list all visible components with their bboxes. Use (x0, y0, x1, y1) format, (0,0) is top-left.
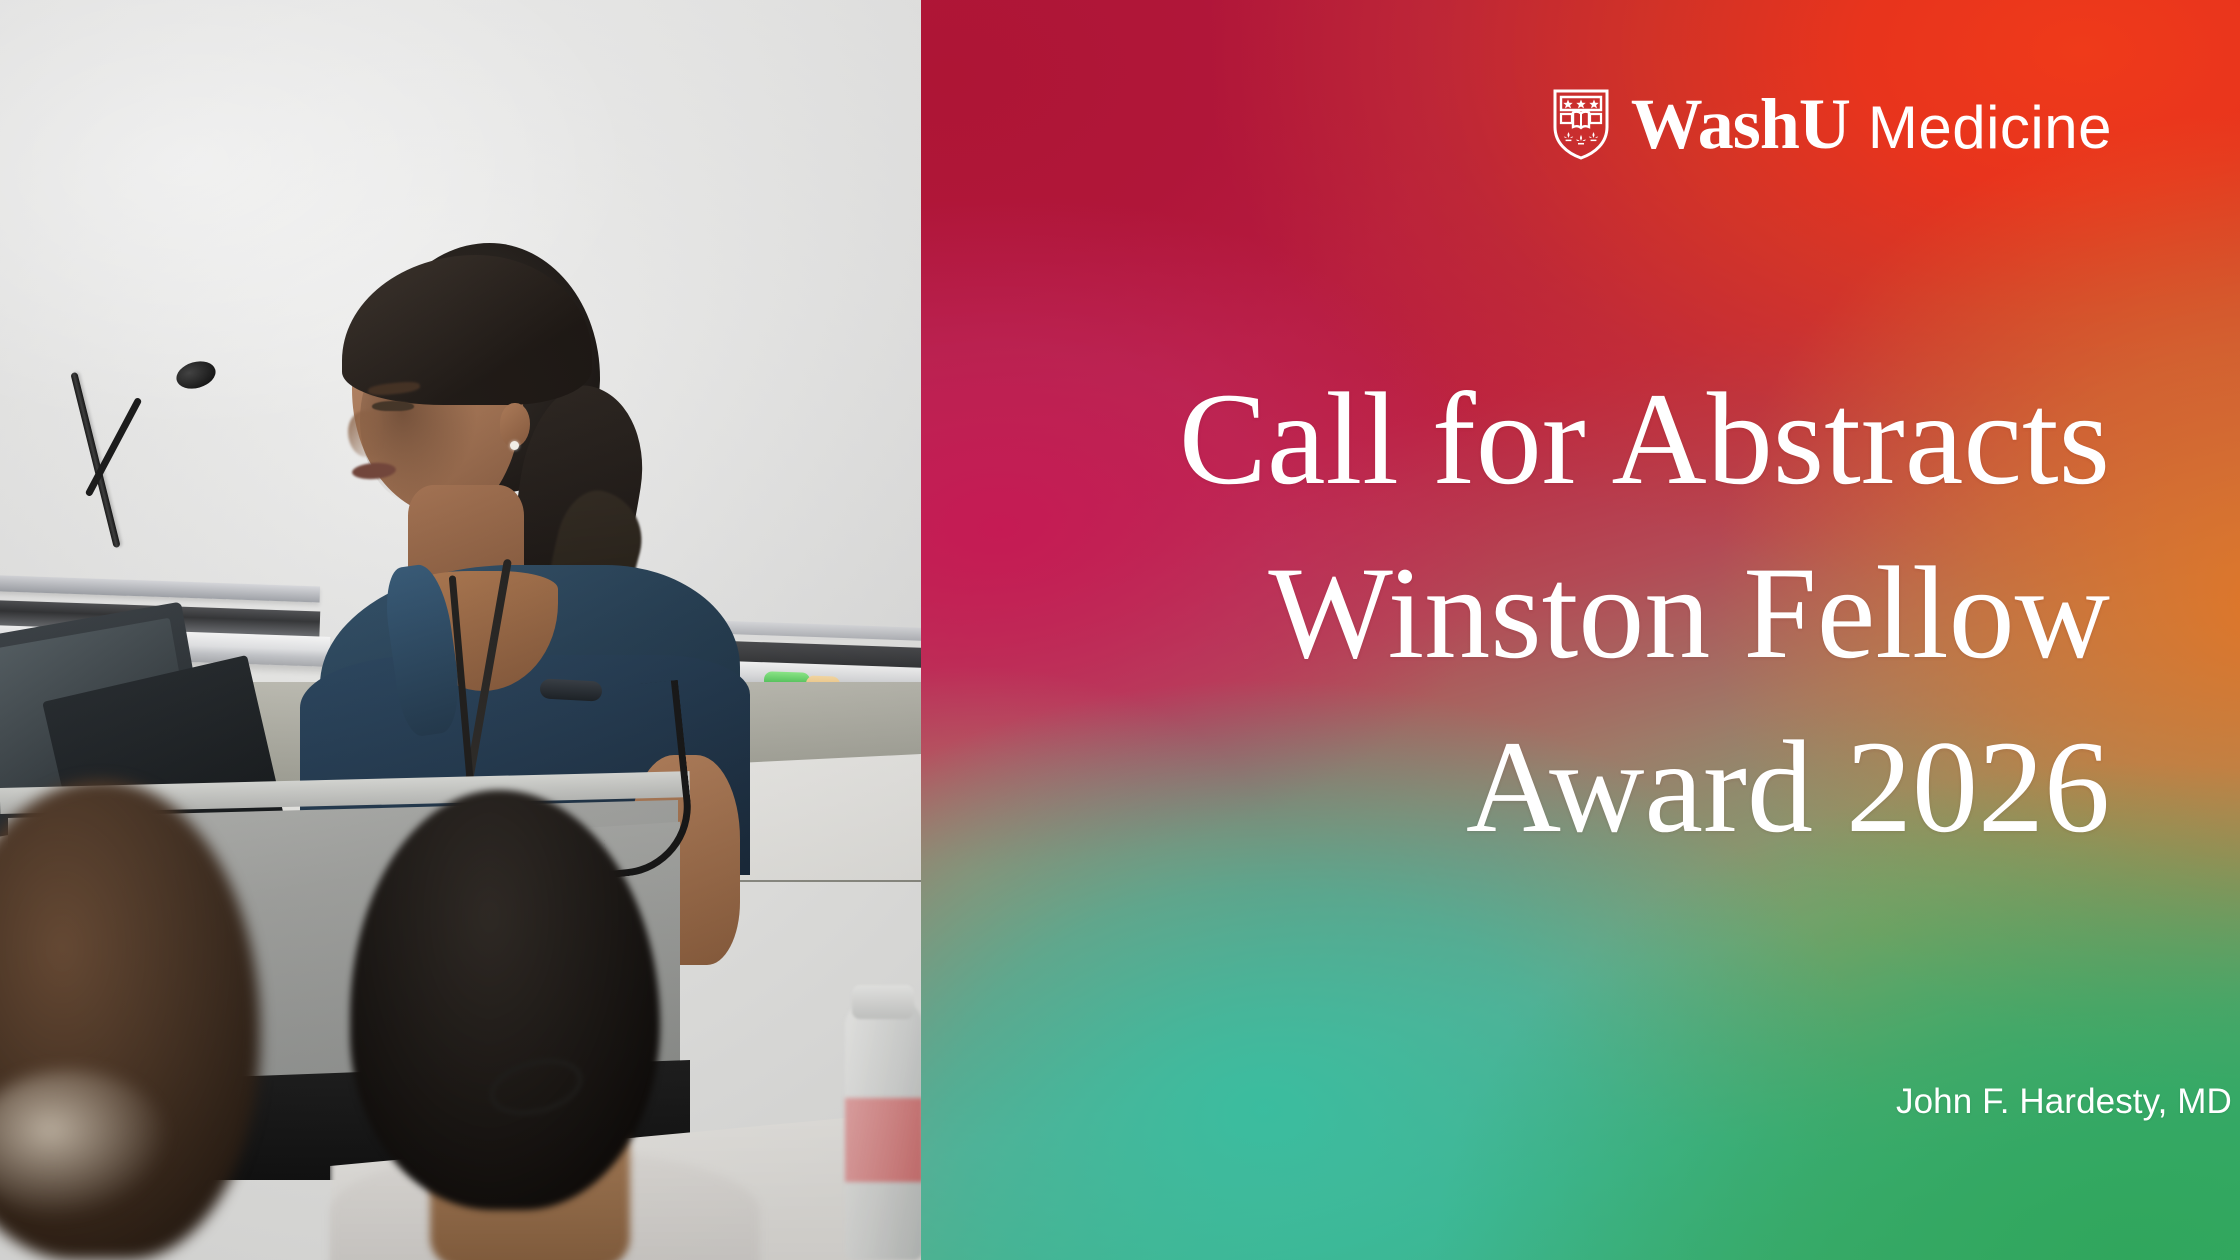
speaker-figure (330, 235, 750, 835)
speaker-nose (348, 411, 382, 457)
headline-line-1: Call for Abstracts (1060, 352, 2110, 526)
water-bottle-label (845, 1098, 921, 1182)
headline-block: Call for Abstracts Winston Fellow Award … (1060, 352, 2110, 875)
department-credit: John F. Hardesty, MD Department of Ophth… (1896, 1082, 2240, 1122)
content-panel: WashU Medicine Call for Abstracts Winsto… (921, 0, 2240, 1260)
headline-line-2: Winston Fellow (1060, 526, 2110, 700)
headline-line-3: Award 2026 (1060, 700, 2110, 874)
washu-medicine-logo[interactable]: WashU Medicine (1553, 88, 2112, 160)
announcement-slide: WashU Medicine Call for Abstracts Winsto… (0, 0, 2240, 1260)
washu-shield-crest-icon (1553, 88, 1609, 160)
logo-wordmark: WashU Medicine (1631, 88, 2112, 160)
lecture-photo (0, 0, 921, 1260)
water-bottle-cap (852, 985, 914, 1019)
speaker-eye (372, 401, 414, 411)
logo-medicine-text: Medicine (1868, 98, 2112, 158)
speaker-earring (510, 441, 519, 450)
logo-washu-text: WashU (1631, 88, 1850, 160)
